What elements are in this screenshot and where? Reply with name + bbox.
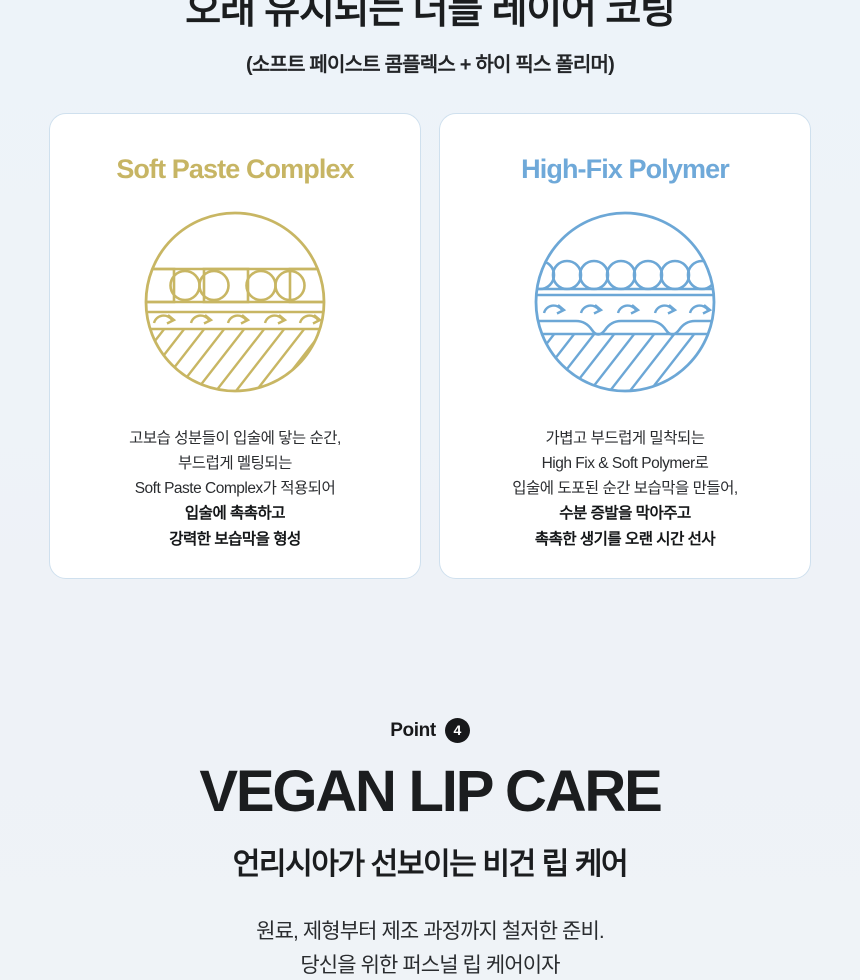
- soft-paste-complex-layer-diagram: [142, 209, 328, 400]
- page-title: 오래 유지되는 더블 레이어 코팅: [0, 0, 860, 32]
- point-label: Point: [390, 720, 436, 742]
- card-body-high-fix-polymer: 가볍고 부드럽게 밀착되는 High Fix & Soft Polymer로 입…: [512, 426, 737, 552]
- card-body-line: 가볍고 부드럽게 밀착되는: [512, 426, 737, 451]
- page-header: 오래 유지되는 더블 레이어 코팅 (소프트 페이스트 콤플렉스 + 하이 픽스…: [0, 0, 860, 77]
- card-title-soft-paste-complex: Soft Paste Complex: [116, 154, 353, 185]
- point-four-section: Point 4 VEGAN LIP CARE 언리시아가 선보이는 비건 립 케…: [0, 718, 860, 980]
- closing-line: 원료, 제형부터 제조 과정까지 철저한 준비.: [0, 915, 860, 949]
- card-body-line: 촉촉한 생기를 오랜 시간 선사: [512, 527, 737, 552]
- card-body-line: 입술에 도포된 순간 보습막을 만들어,: [512, 476, 737, 501]
- point-indicator: Point 4: [0, 718, 860, 743]
- high-fix-polymer-layer-diagram: [532, 209, 718, 400]
- ingredient-card-soft-paste-complex: Soft Paste Complex: [49, 113, 421, 579]
- card-title-high-fix-polymer: High-Fix Polymer: [521, 154, 729, 185]
- ingredient-card-list: Soft Paste Complex: [0, 113, 860, 579]
- card-body-line: 강력한 보습막을 형성: [129, 527, 341, 552]
- card-body-line: 부드럽게 멜팅되는: [129, 451, 341, 476]
- card-body-line: 수분 증발을 막아주고: [512, 501, 737, 526]
- card-body-line: 입술에 촉촉하고: [129, 501, 341, 526]
- card-body-line: Soft Paste Complex가 적용되어: [129, 476, 341, 501]
- ingredient-card-high-fix-polymer: High-Fix Polymer: [439, 113, 811, 579]
- card-body-line: High Fix & Soft Polymer로: [512, 451, 737, 476]
- section-title-vegan-lip-care: VEGAN LIP CARE: [0, 763, 860, 821]
- section-subtitle: 언리시아가 선보이는 비건 립 케어: [0, 839, 860, 883]
- page-subtitle: (소프트 페이스트 콤플렉스 + 하이 픽스 폴리머): [0, 48, 860, 77]
- closing-line: 당신을 위한 퍼스널 립 케어이자: [0, 949, 860, 980]
- card-body-line: 고보습 성분들이 입술에 닿는 순간,: [129, 426, 341, 451]
- section-closing-text: 원료, 제형부터 제조 과정까지 철저한 준비. 당신을 위한 퍼스널 립 케어…: [0, 915, 860, 980]
- card-body-soft-paste-complex: 고보습 성분들이 입술에 닿는 순간, 부드럽게 멜팅되는 Soft Paste…: [129, 426, 341, 552]
- point-number-badge: 4: [445, 718, 470, 743]
